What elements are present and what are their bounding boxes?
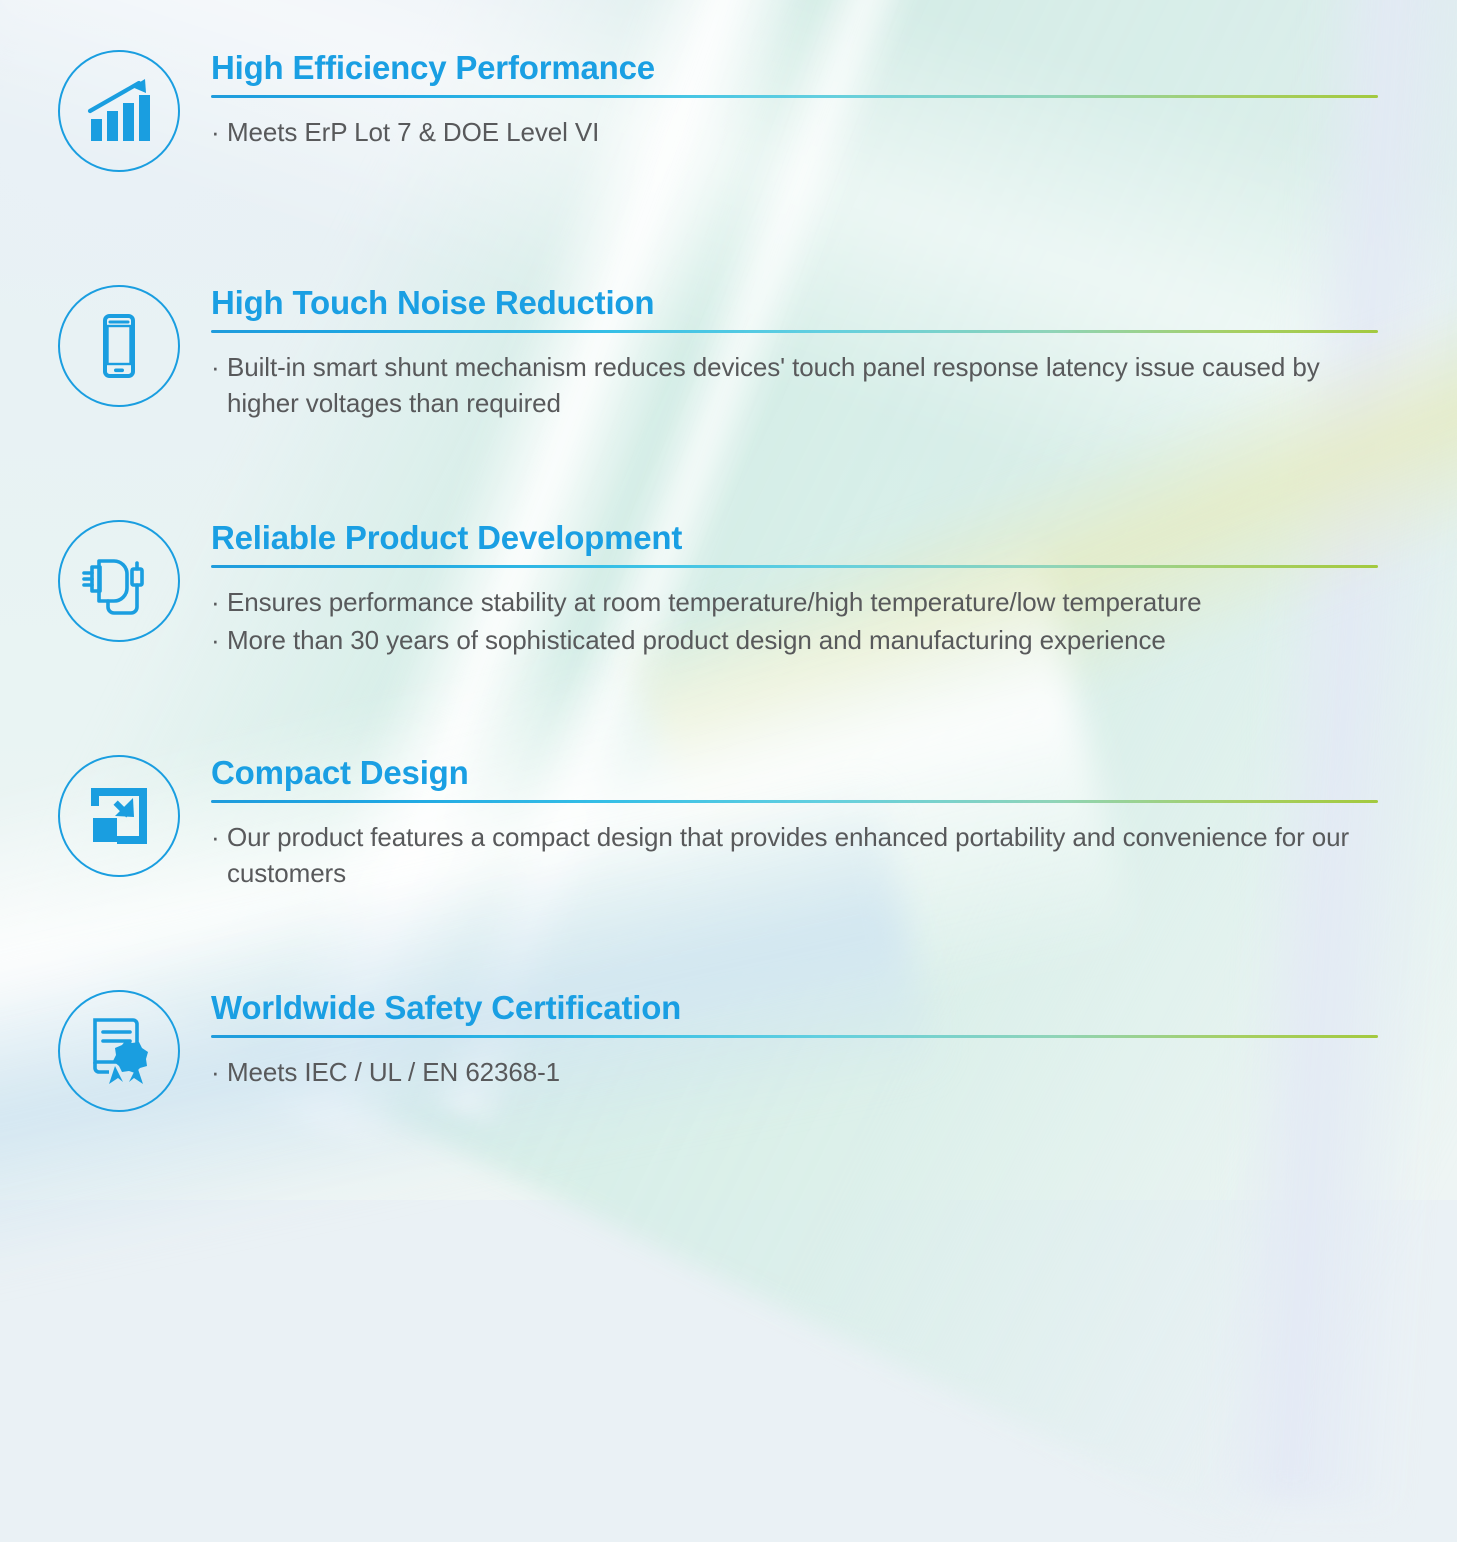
bullet-item: · Ensures performance stability at room … xyxy=(211,584,1378,620)
feature-icon-frame xyxy=(58,755,180,877)
bullet-text: Meets ErP Lot 7 & DOE Level VI xyxy=(227,114,1378,150)
bullet-text: Meets IEC / UL / EN 62368-1 xyxy=(227,1054,1378,1090)
bullet-marker: · xyxy=(211,114,227,150)
feature-divider xyxy=(211,1035,1378,1038)
feature-bullets: · Meets IEC / UL / EN 62368-1 xyxy=(211,1054,1378,1090)
feature-item-reliable-product-development: Reliable Product Development · Ensures p… xyxy=(58,518,1378,660)
feature-item-high-touch-noise-reduction: High Touch Noise Reduction · Built-in sm… xyxy=(58,283,1378,423)
bullet-text: Ensures performance stability at room te… xyxy=(227,584,1378,620)
compact-resize-icon xyxy=(87,784,151,848)
bullet-item: · More than 30 years of sophisticated pr… xyxy=(211,622,1378,658)
feature-icon-frame xyxy=(58,285,180,407)
feature-item-high-efficiency-performance: High Efficiency Performance · Meets ErP … xyxy=(58,48,1378,172)
bullet-item: · Our product features a compact design … xyxy=(211,819,1378,891)
bullet-item: · Built-in smart shunt mechanism reduces… xyxy=(211,349,1378,421)
feature-bullets: · Meets ErP Lot 7 & DOE Level VI xyxy=(211,114,1378,150)
feature-content: Compact Design · Our product features a … xyxy=(211,753,1378,893)
bullet-marker: · xyxy=(211,1054,227,1090)
bar-chart-growth-icon xyxy=(83,75,155,147)
feature-title: Worldwide Safety Certification xyxy=(211,990,1378,1026)
feature-title: Reliable Product Development xyxy=(211,520,1378,556)
feature-icon-frame xyxy=(58,50,180,172)
bullet-marker: · xyxy=(211,819,227,891)
bullet-text: Our product features a compact design th… xyxy=(227,819,1378,891)
feature-icon-frame xyxy=(58,520,180,642)
feature-content: High Efficiency Performance · Meets ErP … xyxy=(211,48,1378,152)
feature-content: Reliable Product Development · Ensures p… xyxy=(211,518,1378,660)
feature-divider xyxy=(211,565,1378,568)
feature-divider xyxy=(211,95,1378,98)
smartphone-icon xyxy=(83,310,155,382)
bullet-text: Built-in smart shunt mechanism reduces d… xyxy=(227,349,1378,421)
bullet-item: · Meets IEC / UL / EN 62368-1 xyxy=(211,1054,1378,1090)
bullet-item: · Meets ErP Lot 7 & DOE Level VI xyxy=(211,114,1378,150)
feature-item-worldwide-safety-certification: Worldwide Safety Certification · Meets I… xyxy=(58,988,1378,1112)
feature-content: High Touch Noise Reduction · Built-in sm… xyxy=(211,283,1378,423)
feature-bullets: · Ensures performance stability at room … xyxy=(211,584,1378,658)
feature-title: Compact Design xyxy=(211,755,1378,791)
bullet-marker: · xyxy=(211,584,227,620)
power-adapter-icon xyxy=(81,545,157,617)
feature-bullets: · Our product features a compact design … xyxy=(211,819,1378,891)
feature-list-page: High Efficiency Performance · Meets ErP … xyxy=(0,0,1457,1200)
feature-title: High Efficiency Performance xyxy=(211,50,1378,86)
feature-title: High Touch Noise Reduction xyxy=(211,285,1378,321)
bullet-marker: · xyxy=(211,349,227,421)
feature-icon-frame xyxy=(58,990,180,1112)
certificate-seal-icon xyxy=(85,1016,153,1086)
bullet-text: More than 30 years of sophisticated prod… xyxy=(227,622,1378,658)
feature-divider xyxy=(211,330,1378,333)
bullet-marker: · xyxy=(211,622,227,658)
feature-bullets: · Built-in smart shunt mechanism reduces… xyxy=(211,349,1378,421)
feature-content: Worldwide Safety Certification · Meets I… xyxy=(211,988,1378,1092)
feature-divider xyxy=(211,800,1378,803)
feature-item-compact-design: Compact Design · Our product features a … xyxy=(58,753,1378,893)
